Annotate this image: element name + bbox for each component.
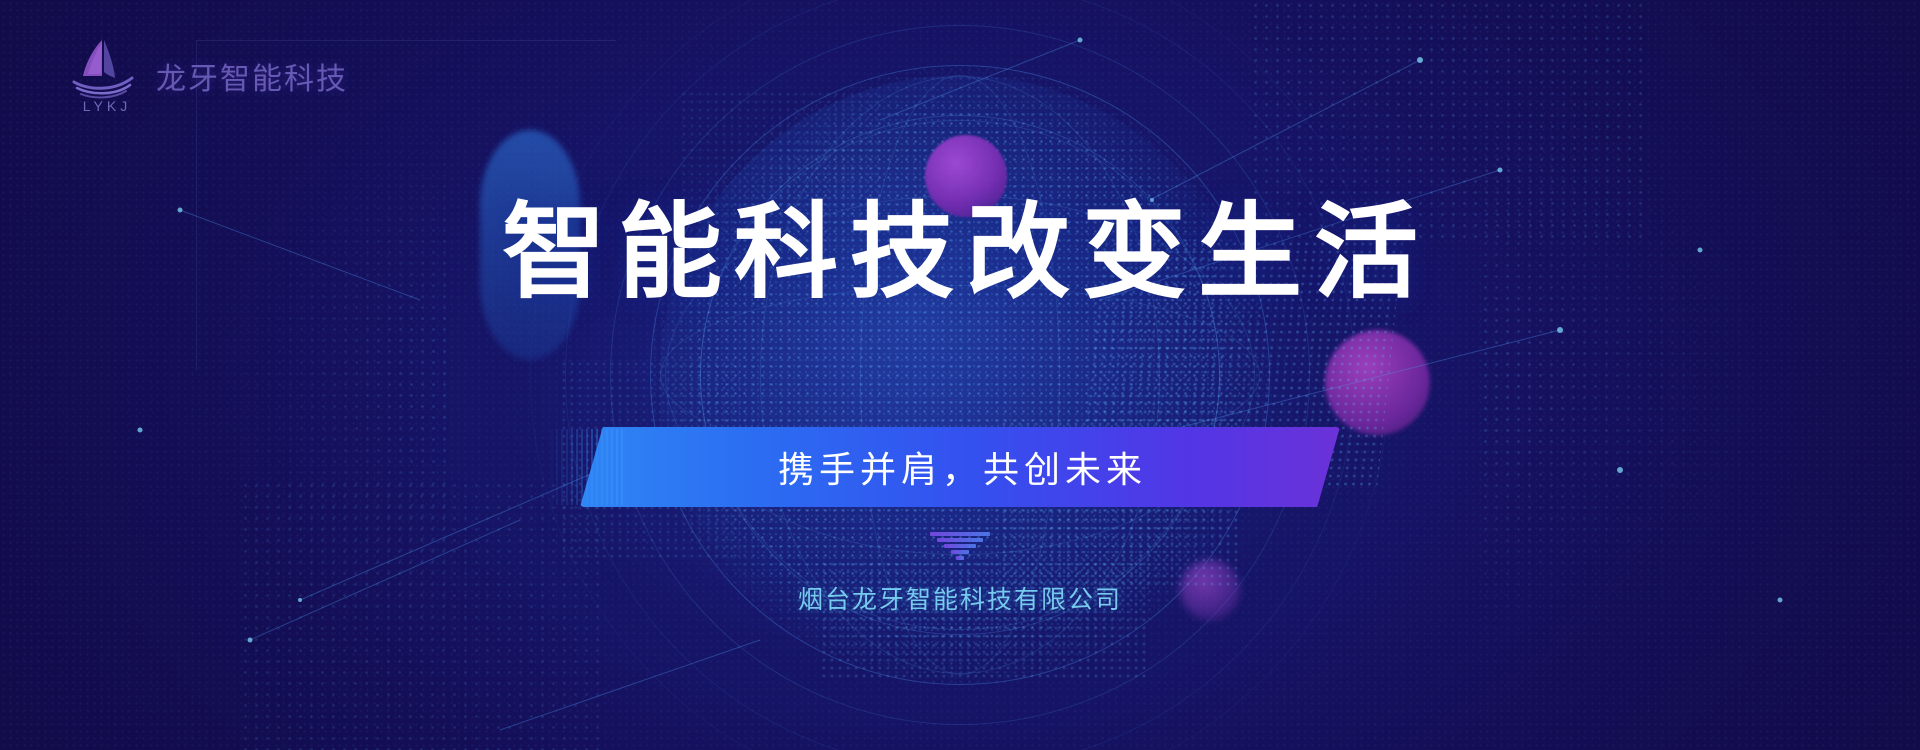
company-name: 烟台龙牙智能科技有限公司 [0, 580, 1920, 616]
connector-lines [0, 0, 1920, 750]
globe-ring-4 [565, 0, 1355, 750]
page-title: 智能科技改变生活 [0, 196, 1920, 310]
background-dot-texture [0, 0, 1920, 750]
globe-graphic [530, 0, 1390, 750]
logo-subtext: LYKJ [68, 98, 146, 114]
hero-banner: LYKJ 龙牙智能科技 智能科技改变生活 携手并肩，共创未来 烟台龙牙智能科技有… [0, 0, 1920, 750]
data-patch-4 [820, 560, 1150, 680]
sail-logo-icon: LYKJ [68, 36, 146, 110]
brand-name: 龙牙智能科技 [156, 54, 348, 98]
speckle-right [1480, 40, 1900, 720]
slogan-text: 携手并肩，共创未来 [580, 427, 1340, 507]
slogan-ribbon[interactable]: 携手并肩，共创未来 [580, 427, 1340, 507]
globe-ring-3 [610, 25, 1310, 725]
triangle-divider-icon [930, 530, 990, 560]
globe-ring-5 [530, 0, 1390, 750]
glow-blob-magenta [1325, 330, 1430, 435]
brand-logo[interactable]: LYKJ 龙牙智能科技 [68, 36, 348, 110]
